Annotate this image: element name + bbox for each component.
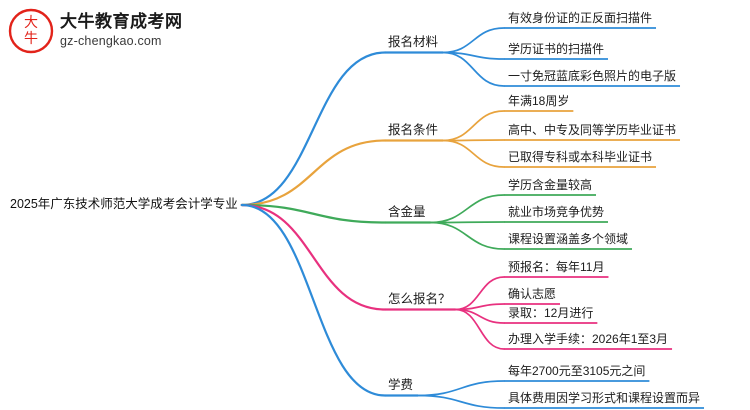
mindmap-leaf-node: 每年2700元至3105元之间 (508, 365, 645, 377)
mindmap-canvas: 大 牛 大牛教育成考网 gz-chengkao.com 2025年广东技术师范大… (0, 0, 750, 410)
logo-mark-icon: 大 牛 (8, 8, 54, 54)
logo-subtitle: gz-chengkao.com (60, 35, 183, 49)
mindmap-leaf-node: 办理入学手续：2026年1至3月 (508, 333, 668, 345)
mindmap-branch-node: 怎么报名？ (388, 293, 451, 306)
svg-text:牛: 牛 (24, 30, 38, 46)
mindmap-branch-node: 学费 (388, 379, 413, 392)
mindmap-leaf-node: 年满18周岁 (508, 95, 569, 107)
mindmap-leaf-node: 学历含金量较高 (508, 179, 592, 191)
mindmap-leaf-node: 具体费用因学习形式和课程设置而异 (508, 392, 700, 404)
mindmap-leaf-node: 课程设置涵盖多个领域 (508, 233, 628, 245)
mindmap-leaf-node: 一寸免冠蓝底彩色照片的电子版 (508, 70, 676, 82)
mindmap-branch-node: 报名材料 (388, 36, 438, 49)
mindmap-leaf-node: 有效身份证的正反面扫描件 (508, 12, 652, 24)
site-logo: 大 牛 大牛教育成考网 gz-chengkao.com (8, 8, 183, 54)
mindmap-leaf-node: 录取：12月进行 (508, 307, 593, 319)
mindmap-leaf-node: 确认志愿 (508, 288, 556, 300)
mindmap-root-node: 2025年广东技术师范大学成考会计学专业 (10, 198, 238, 211)
mindmap-leaf-node: 预报名：每年11月 (508, 261, 604, 273)
mindmap-leaf-node: 就业市场竞争优势 (508, 206, 604, 218)
mindmap-leaf-node: 学历证书的扫描件 (508, 43, 604, 55)
mindmap-branch-node: 报名条件 (388, 124, 438, 137)
mindmap-leaf-node: 高中、中专及同等学历毕业证书 (508, 124, 676, 136)
logo-title: 大牛教育成考网 (60, 13, 183, 32)
mindmap-leaf-node: 已取得专科或本科毕业证书 (508, 151, 652, 163)
mindmap-branch-node: 含金量 (388, 206, 426, 219)
svg-text:大: 大 (24, 14, 38, 30)
